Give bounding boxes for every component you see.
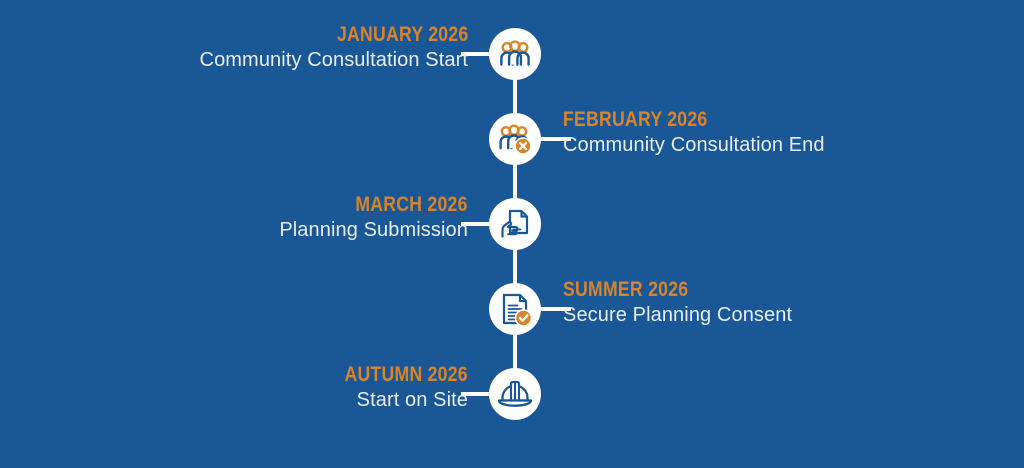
milestone-title: Planning Submission (279, 220, 468, 240)
milestone-date: AUTUMN 2026 (345, 364, 468, 385)
milestone-date: FEBRUARY 2026 (563, 109, 783, 130)
hard-hat-icon (489, 368, 541, 420)
timeline-milestone: AUTUMN 2026 Start on Site (0, 368, 1024, 424)
milestone-label: MARCH 2026 Planning Submission (279, 194, 468, 240)
hand-document-icon (489, 198, 541, 250)
timeline-infographic: JANUARY 2026 Community Consultation Star… (0, 0, 1024, 468)
milestone-date: SUMMER 2026 (563, 279, 755, 300)
document-check-icon (489, 283, 541, 335)
milestone-title: Community Consultation Start (200, 50, 468, 70)
milestone-date: MARCH 2026 (310, 194, 468, 215)
timeline-milestone: MARCH 2026 Planning Submission (0, 198, 1024, 254)
timeline-milestone: JANUARY 2026 Community Consultation Star… (0, 28, 1024, 84)
milestone-label: FEBRUARY 2026 Community Consultation End (563, 109, 825, 155)
milestone-label: AUTUMN 2026 Start on Site (321, 364, 468, 410)
milestone-label: SUMMER 2026 Secure Planning Consent (563, 279, 792, 325)
milestone-title: Community Consultation End (563, 135, 825, 155)
milestone-label: JANUARY 2026 Community Consultation Star… (200, 24, 468, 70)
people-group-x-icon (489, 113, 541, 165)
timeline-milestone: FEBRUARY 2026 Community Consultation End (0, 113, 1024, 169)
milestone-date: JANUARY 2026 (242, 24, 468, 45)
milestone-title: Start on Site (321, 390, 468, 410)
milestone-title: Secure Planning Consent (563, 305, 792, 325)
people-group-icon (489, 28, 541, 80)
timeline-milestone: SUMMER 2026 Secure Planning Consent (0, 283, 1024, 339)
